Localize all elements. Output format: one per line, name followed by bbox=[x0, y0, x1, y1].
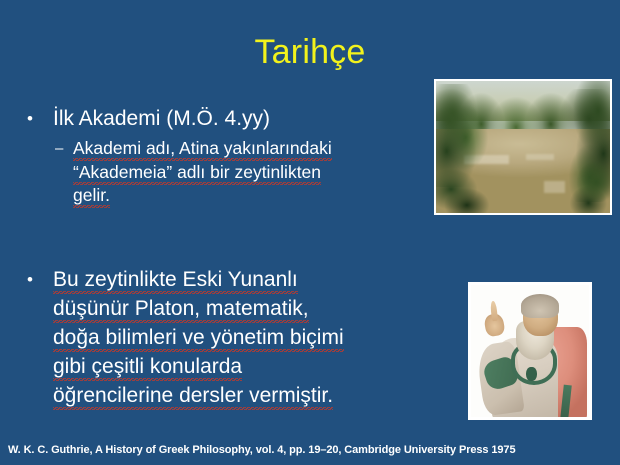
portrait-knot bbox=[526, 367, 537, 382]
bullet-text-line3: doğa bilimleri ve yönetim biçimi bbox=[53, 326, 344, 352]
photo-brush-bottom-left bbox=[434, 168, 492, 215]
sub-bullet-text-line3: gelir. bbox=[73, 185, 110, 208]
photo-ruin-patch bbox=[544, 181, 565, 193]
bullet-text-line1: Bu zeytinlikte Eski Yunanlı bbox=[53, 268, 298, 294]
footer-citation: W. K. C. Guthrie, A History of Greek Phi… bbox=[8, 443, 515, 457]
presentation-slide: Tarihçe • İlk Akademi (M.Ö. 4.yy) – Akad… bbox=[0, 0, 620, 465]
portrait-hair bbox=[521, 294, 560, 318]
bullet-block-first-academy: • İlk Akademi (M.Ö. 4.yy) – Akademi adı,… bbox=[27, 104, 427, 208]
bullet-dash-icon: – bbox=[55, 137, 63, 161]
image-plato-portrait bbox=[468, 282, 592, 420]
image-akademeia-site bbox=[434, 79, 612, 215]
bullet-text-line2: düşünür Platon, matematik, bbox=[53, 297, 309, 323]
sub-bullet-group: – Akademi adı, Atina yakınlarındaki “Aka… bbox=[55, 137, 427, 208]
bullet-item-level1: • Bu zeytinlikte Eski Yunanlı düşünür Pl… bbox=[27, 265, 432, 410]
sub-bullet-text-line2: “Akademeia” adlı bir zeytinlikten bbox=[73, 162, 321, 185]
portrait-pointing-finger bbox=[490, 301, 498, 321]
portrait-canvas bbox=[471, 285, 589, 417]
photo-ruin-patch bbox=[526, 154, 554, 161]
bullet-block-plato-teaching: • Bu zeytinlikte Eski Yunanlı düşünür Pl… bbox=[27, 265, 432, 410]
sub-bullet-text-line1: Akademi adı, Atina yakınlarındaki bbox=[73, 138, 332, 161]
bullet-item-level1: • İlk Akademi (M.Ö. 4.yy) bbox=[27, 104, 427, 133]
slide-title: Tarihçe bbox=[0, 32, 620, 72]
bullet-text-line5: öğrencilerine dersler vermiştir. bbox=[53, 384, 333, 410]
bullet-text-line4: gibi çeşitli konularda bbox=[53, 355, 242, 381]
bullet-item-level2: – Akademi adı, Atina yakınlarındaki “Aka… bbox=[55, 137, 427, 208]
bullet-text: İlk Akademi (M.Ö. 4.yy) bbox=[53, 107, 270, 130]
photo-brush-bottom-right bbox=[565, 158, 612, 215]
bullet-dot-icon: • bbox=[27, 265, 33, 294]
bullet-dot-icon: • bbox=[27, 104, 33, 133]
